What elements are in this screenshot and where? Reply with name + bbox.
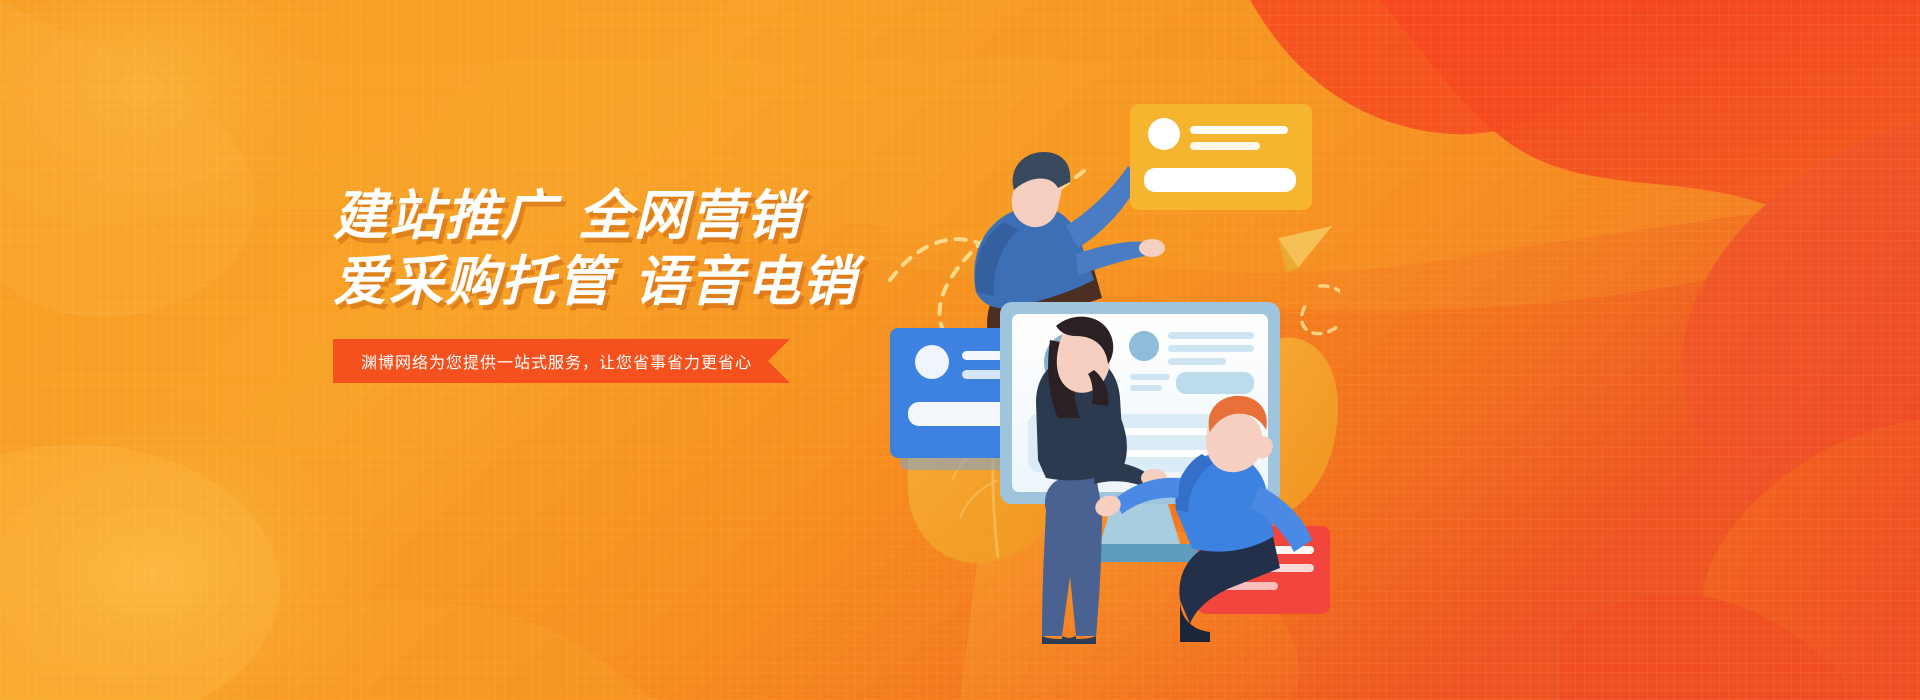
tagline-text: 渊博网络为您提供一站式服务，让您省事省力更省心 (361, 349, 752, 373)
yellow-notification-card (1130, 104, 1312, 210)
paper-plane-icon (1278, 226, 1332, 272)
tagline-ribbon: 渊博网络为您提供一站式服务，让您省事省力更省心 (333, 339, 790, 383)
plane-trail (1302, 286, 1340, 334)
promo-banner: 建站推广 全网营销 爱采购托管 语音电销 渊博网络为您提供一站式服务，让您省事省… (0, 0, 1920, 700)
hero-illustration (880, 40, 1340, 660)
